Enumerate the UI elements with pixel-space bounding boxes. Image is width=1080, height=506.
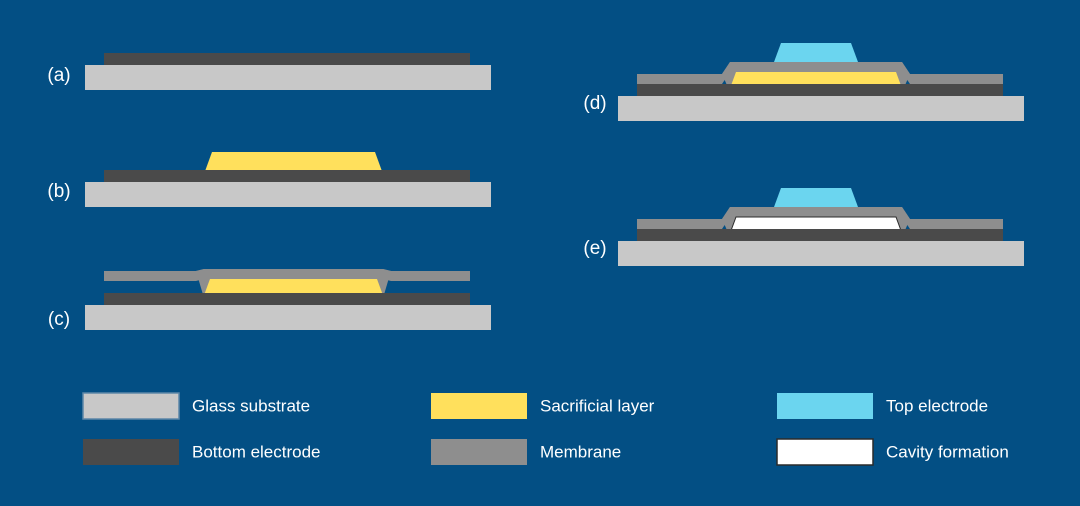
- panel-e-top-electrode: [774, 188, 858, 207]
- panel-a-glass-substrate: [85, 65, 491, 90]
- panel-e: (e): [583, 188, 1024, 266]
- legend-item-sacrificial-layer: Sacrificial layer: [431, 393, 655, 419]
- panel-b-label: (b): [47, 181, 70, 202]
- legend-item-cavity-formation: Cavity formation: [777, 439, 1009, 465]
- panel-b-bottom-electrode: [104, 170, 470, 182]
- panel-c-glass-substrate: [85, 305, 491, 330]
- panel-c-label: (c): [48, 309, 70, 330]
- legend-label-glass-substrate: Glass substrate: [192, 396, 310, 415]
- panel-c: (c): [48, 269, 491, 330]
- legend-label-bottom-electrode: Bottom electrode: [192, 442, 321, 461]
- legend-swatch-glass-substrate: [83, 393, 179, 419]
- panel-b: (b): [47, 152, 491, 207]
- panel-d-bottom-electrode: [637, 84, 1003, 96]
- legend-item-top-electrode: Top electrode: [777, 393, 988, 419]
- panel-d-label: (d): [583, 93, 606, 114]
- legend-swatch-bottom-electrode: [83, 439, 179, 465]
- legend-label-sacrificial-layer: Sacrificial layer: [540, 396, 655, 415]
- legend-item-bottom-electrode: Bottom electrode: [83, 439, 321, 465]
- legend-label-cavity-formation: Cavity formation: [886, 442, 1009, 461]
- legend-label-top-electrode: Top electrode: [886, 396, 988, 415]
- legend-swatch-membrane: [431, 439, 527, 465]
- panel-a-label: (a): [47, 65, 70, 86]
- panel-c-bottom-electrode: [104, 293, 470, 305]
- panel-e-glass-substrate: [618, 241, 1024, 266]
- legend-swatch-sacrificial-layer: [431, 393, 527, 419]
- figure-canvas: (a) (b) (c) (d): [0, 0, 1080, 506]
- process-flow-diagram: (a) (b) (c) (d): [0, 0, 1080, 506]
- panel-b-glass-substrate: [85, 182, 491, 207]
- legend-swatch-top-electrode: [777, 393, 873, 419]
- legend: Glass substrate Bottom electrode Sacrifi…: [83, 393, 1009, 465]
- panel-e-label: (e): [583, 238, 606, 259]
- panel-e-bottom-electrode: [637, 229, 1003, 241]
- panel-d-top-electrode: [774, 43, 858, 62]
- panel-d: (d): [583, 43, 1024, 121]
- legend-label-membrane: Membrane: [540, 442, 621, 461]
- panel-a: (a): [47, 53, 491, 90]
- legend-swatch-cavity-formation: [777, 439, 873, 465]
- legend-item-glass-substrate: Glass substrate: [83, 393, 310, 419]
- panel-a-bottom-electrode: [104, 53, 470, 65]
- panel-d-glass-substrate: [618, 96, 1024, 121]
- legend-item-membrane: Membrane: [431, 439, 621, 465]
